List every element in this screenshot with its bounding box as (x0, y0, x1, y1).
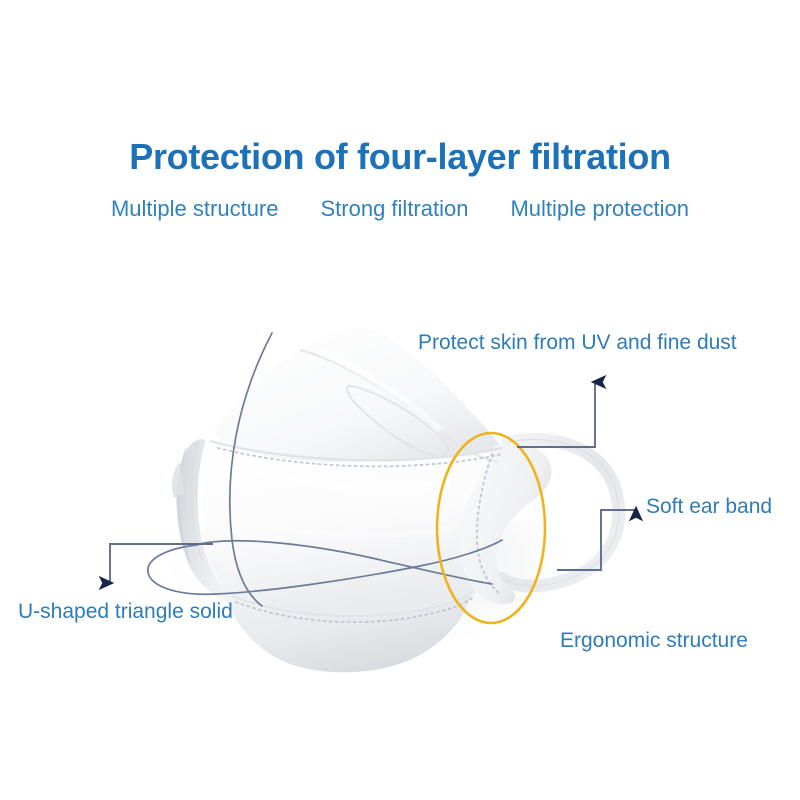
leader-ear-band (558, 510, 636, 570)
mask-left-edge (176, 439, 240, 604)
callout-label-soft-ear-band: Soft ear band (646, 495, 772, 519)
highlight-ellipse (437, 433, 545, 623)
subtitle-row: Multiple structure Strong filtration Mul… (0, 196, 800, 222)
mask-shadow (155, 465, 585, 655)
callout-label-u-shaped-triangle-solid: U-shaped triangle solid (18, 600, 233, 624)
vertical-guide-curve (230, 333, 272, 606)
mask-infographic-page: Protection of four-layer filtration Mult… (0, 0, 800, 800)
ear-loop (500, 439, 619, 585)
callout-label-uv: Protect skin from UV and fine dust (418, 331, 737, 355)
page-title: Protection of four-layer filtration (0, 136, 800, 178)
leader-u-shape (110, 544, 212, 583)
leader-uv (518, 382, 595, 447)
mask-chin-fold (216, 566, 472, 672)
subtitle-strong-filtration: Strong filtration (321, 196, 469, 222)
mask-front-panel (201, 440, 507, 617)
leader-lines (110, 382, 636, 583)
guide-curves (148, 333, 502, 606)
subtitle-multiple-protection: Multiple protection (510, 196, 689, 222)
mask-right-wing (459, 443, 552, 604)
mask-illustration (0, 0, 800, 800)
subtitle-multiple-structure: Multiple structure (111, 196, 279, 222)
horizontal-guide-curve (196, 541, 492, 584)
callout-label-ergonomic-structure: Ergonomic structure (560, 629, 748, 653)
left-guide-loop (148, 540, 502, 594)
